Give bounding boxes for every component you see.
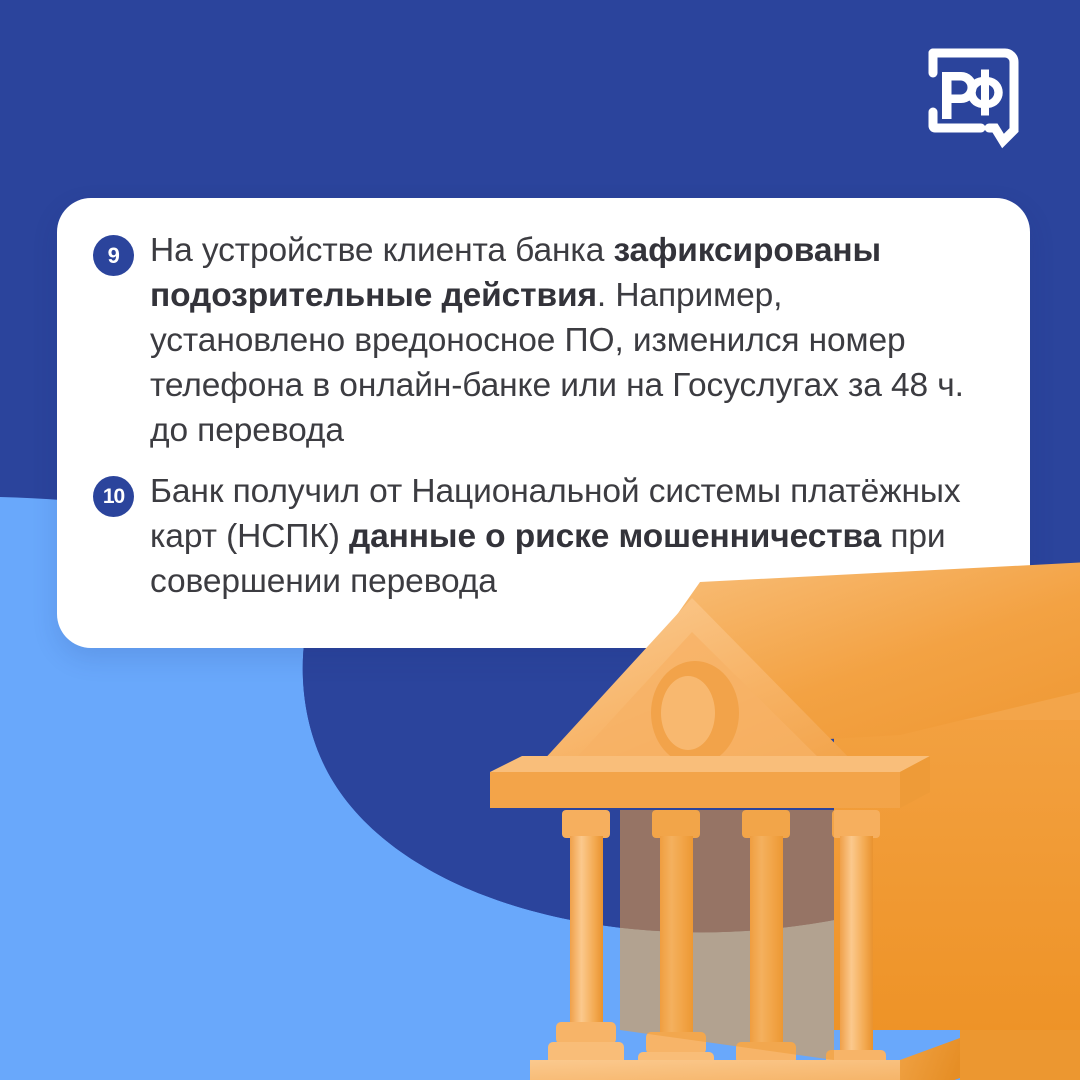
list-number-badge-9: 9 [93,235,134,276]
run-bold: данные о риске мошенничества [349,518,881,555]
list-number-badge-10: 10 [93,476,134,517]
run-plain: На устройстве клиента банка [150,232,613,269]
building-step-1-side [900,1038,960,1080]
building-base-right [960,1030,1080,1080]
building-entablature-top [490,756,930,772]
building-pediment-ornament-inner [661,676,715,750]
logo-letters [942,70,1003,120]
building-entablature [490,772,900,808]
numbered-list: 9 На устройстве клиента банка зафиксиров… [93,228,986,604]
list-item-9: 9 На устройстве клиента банка зафиксиров… [93,228,986,453]
building-interior-wall [620,810,834,1060]
bank-building-icon [430,560,1080,1080]
list-item-9-text: На устройстве клиента банка зафиксирован… [150,232,964,449]
building-step-1 [530,1060,900,1080]
rf-logo [919,42,1025,154]
infographic-canvas: 9 На устройстве клиента банка зафиксиров… [0,0,1080,1080]
building-column-1 [548,810,624,1066]
